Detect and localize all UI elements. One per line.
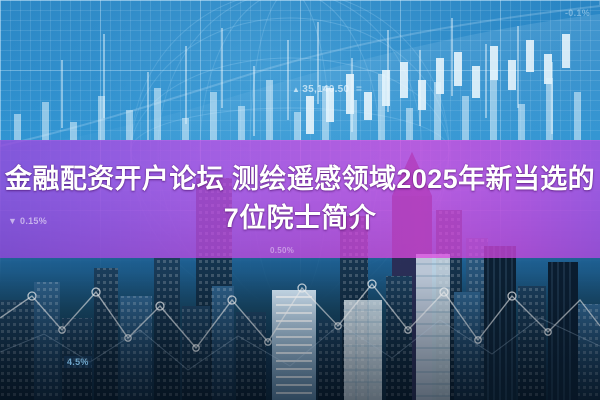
top-right-percent-label: -0.1% [565, 8, 590, 18]
banner-image: ▲35,140.50 = -0.1% ▼ 0.15% 0.50% 4.5% 金融… [0, 0, 600, 400]
headline-line-2: 7位院士简介 [224, 200, 376, 237]
headline-block: 金融配资开户论坛 测绘遥感领域2025年新当选的 7位院士简介 [0, 140, 600, 258]
index-value-text: 35,140.50 [302, 84, 349, 95]
tick-marks-label: = [356, 84, 363, 95]
index-value-label: ▲35,140.50 [292, 84, 349, 95]
up-arrow-icon: ▲ [292, 85, 300, 94]
bottom-percent-label: 4.5% [64, 356, 92, 368]
headline-line-1: 金融配资开户论坛 测绘遥感领域2025年新当选的 [5, 161, 595, 198]
